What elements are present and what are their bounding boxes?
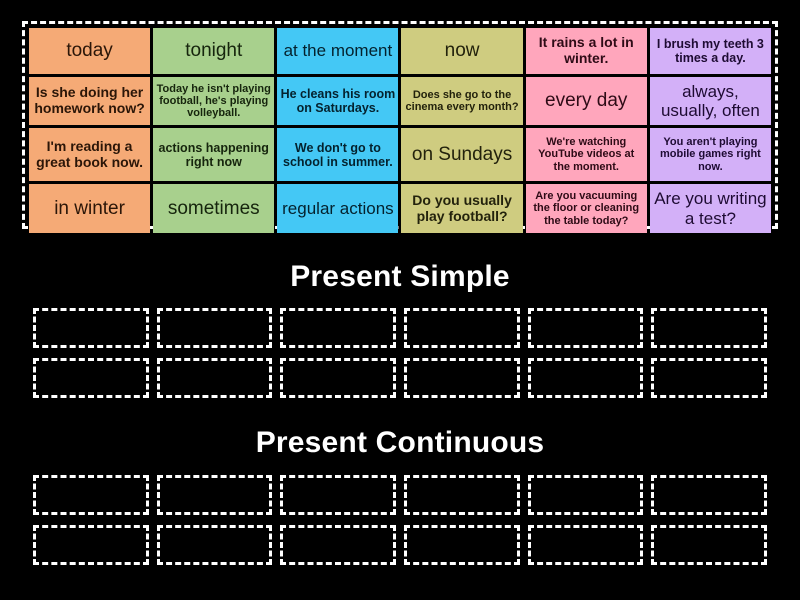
tile-do-you-usually-play-football[interactable]: Do you usually play football? (401, 184, 522, 233)
dropzone-slot[interactable] (404, 525, 520, 565)
tile-bank: today tonight at the moment now It rains… (22, 21, 778, 229)
tile-on-sundays[interactable]: on Sundays (401, 128, 522, 181)
dropzone-slot[interactable] (33, 308, 149, 348)
dropzone-slot[interactable] (651, 308, 767, 348)
tile-i-brush-my-teeth[interactable]: I brush my teeth 3 times a day. (650, 28, 771, 74)
dropzone-slot[interactable] (157, 475, 273, 515)
dropzone-slot[interactable] (33, 525, 149, 565)
dropzone-slot[interactable] (280, 475, 396, 515)
dropzone-slot[interactable] (157, 308, 273, 348)
dropzone-slot[interactable] (528, 358, 644, 398)
tile-you-arent-playing-mobile-games[interactable]: You aren't playing mobile games right no… (650, 128, 771, 181)
tile-today-he-isnt-playing-football[interactable]: Today he isn't playing football, he's pl… (153, 77, 274, 125)
dropzone-slot[interactable] (33, 475, 149, 515)
tile-today[interactable]: today (29, 28, 150, 74)
tile-grid: today tonight at the moment now It rains… (29, 28, 771, 222)
dropzone-group-present-simple (33, 308, 767, 398)
dropzone-slot[interactable] (280, 358, 396, 398)
tile-at-the-moment[interactable]: at the moment (277, 28, 398, 74)
tile-were-watching-youtube-videos[interactable]: We're watching YouTube videos at the mom… (526, 128, 647, 181)
dropzone-slot[interactable] (651, 475, 767, 515)
group-title-present-simple: Present Simple (0, 260, 800, 294)
dropzone-slot[interactable] (528, 525, 644, 565)
tile-are-you-vacuuming-the-floor[interactable]: Are you vacuuming the floor or cleaning … (526, 184, 647, 233)
tile-actions-happening-right-now[interactable]: actions happening right now (153, 128, 274, 181)
dropzone-slot[interactable] (280, 525, 396, 565)
dropzone-slot[interactable] (33, 358, 149, 398)
dropzone-slot[interactable] (404, 308, 520, 348)
tile-tonight[interactable]: tonight (153, 28, 274, 74)
tile-sometimes[interactable]: sometimes (153, 184, 274, 233)
tile-are-you-writing-a-test[interactable]: Are you writing a test? (650, 184, 771, 233)
tile-he-cleans-his-room-on-saturdays[interactable]: He cleans his room on Saturdays. (277, 77, 398, 125)
dropzone-slot[interactable] (404, 475, 520, 515)
dropzone-group-present-continuous (33, 475, 767, 565)
tile-it-rains-a-lot-in-winter[interactable]: It rains a lot in winter. (526, 28, 647, 74)
group-title-present-continuous: Present Continuous (0, 426, 800, 460)
dropzone-slot[interactable] (528, 475, 644, 515)
dropzone-slot[interactable] (404, 358, 520, 398)
tile-is-she-doing-her-homework-now[interactable]: Is she doing her homework now? (29, 77, 150, 125)
tile-does-she-go-to-the-cinema[interactable]: Does she go to the cinema every month? (401, 77, 522, 125)
dropzone-slot[interactable] (651, 358, 767, 398)
tile-always-usually-often[interactable]: always, usually, often (650, 77, 771, 125)
dropzone-slot[interactable] (157, 525, 273, 565)
tile-im-reading-a-great-book-now[interactable]: I'm reading a great book now. (29, 128, 150, 181)
dropzone-slot[interactable] (280, 308, 396, 348)
tile-every-day[interactable]: every day (526, 77, 647, 125)
dropzone-slot[interactable] (528, 308, 644, 348)
tile-regular-actions[interactable]: regular actions (277, 184, 398, 233)
tile-we-dont-go-to-school-in-summer[interactable]: We don't go to school in summer. (277, 128, 398, 181)
tile-now[interactable]: now (401, 28, 522, 74)
dropzone-slot[interactable] (157, 358, 273, 398)
dropzone-slot[interactable] (651, 525, 767, 565)
tile-in-winter[interactable]: in winter (29, 184, 150, 233)
